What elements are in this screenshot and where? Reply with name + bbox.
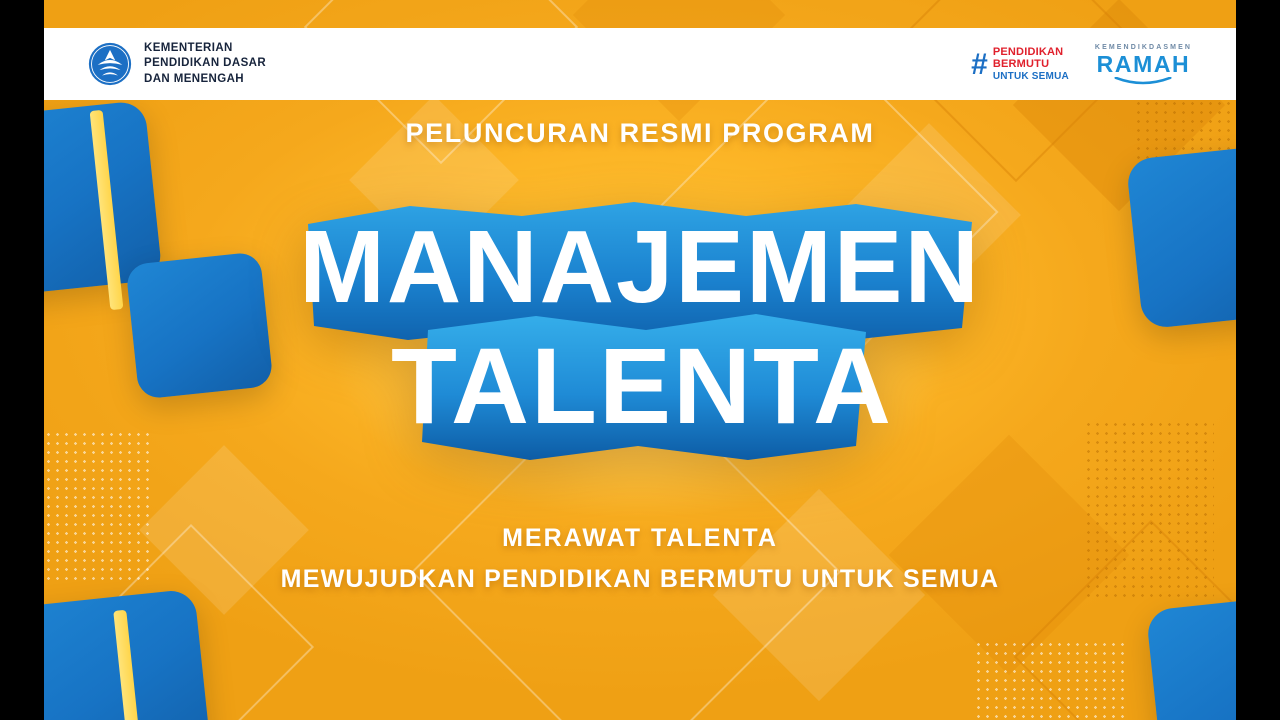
decor-halftone-dots bbox=[974, 640, 1124, 720]
campaign-lines: PENDIDIKAN BERMUTU UNTUK SEMUA bbox=[993, 46, 1069, 82]
pendidikan-bermutu-logo: # PENDIDIKAN BERMUTU UNTUK SEMUA bbox=[971, 46, 1069, 82]
tagline-line-1: MERAWAT TALENTA bbox=[44, 524, 1236, 553]
letterbox-bar-left bbox=[0, 0, 44, 720]
header-right-group: # PENDIDIKAN BERMUTU UNTUK SEMUA KEMENDI… bbox=[971, 44, 1236, 85]
ramah-kicker-text: KEMENDIKDASMEN bbox=[1095, 44, 1192, 51]
header-left-group: KEMENTERIAN PENDIDIKAN DASAR DAN MENENGA… bbox=[44, 41, 266, 87]
poster-canvas: PELUNCURAN RESMI PROGRAM MANA bbox=[44, 0, 1236, 720]
letterbox-bar-right bbox=[1236, 0, 1280, 720]
eyebrow-title: PELUNCURAN RESMI PROGRAM bbox=[44, 118, 1236, 149]
campaign-line-3: UNTUK SEMUA bbox=[993, 71, 1069, 82]
ramah-logo: KEMENDIKDASMEN RAMAH bbox=[1095, 44, 1192, 85]
ramah-wordmark-text: RAMAH bbox=[1097, 53, 1191, 76]
decor-diamond-light bbox=[713, 489, 925, 701]
decor-blue-panel bbox=[125, 251, 273, 399]
ministry-header-bar: KEMENTERIAN PENDIDIKAN DASAR DAN MENENGA… bbox=[44, 28, 1236, 100]
campaign-line-2: BERMUTU bbox=[993, 58, 1069, 70]
decor-blue-panel bbox=[1146, 590, 1236, 720]
smile-swoosh-icon bbox=[1107, 77, 1179, 85]
tut-wuri-handayani-logo-icon bbox=[88, 42, 132, 86]
wordmark-line1-text: MANAJEMEN bbox=[299, 209, 981, 324]
program-wordmark: MANAJEMEN TALENTA bbox=[290, 180, 990, 500]
hash-icon: # bbox=[971, 51, 988, 78]
tagline-line-2: MEWUJUDKAN PENDIDIKAN BERMUTU UNTUK SEMU… bbox=[44, 565, 1236, 594]
video-frame: PELUNCURAN RESMI PROGRAM MANA bbox=[0, 0, 1280, 720]
wordmark-line2-text: TALENTA bbox=[391, 325, 893, 446]
campaign-line-1: PENDIDIKAN bbox=[993, 46, 1069, 58]
decor-blue-panel bbox=[1126, 141, 1236, 330]
ministry-name-text: KEMENTERIAN PENDIDIKAN DASAR DAN MENENGA… bbox=[144, 41, 266, 87]
tagline-block: MERAWAT TALENTA MEWUJUDKAN PENDIDIKAN BE… bbox=[44, 524, 1236, 594]
